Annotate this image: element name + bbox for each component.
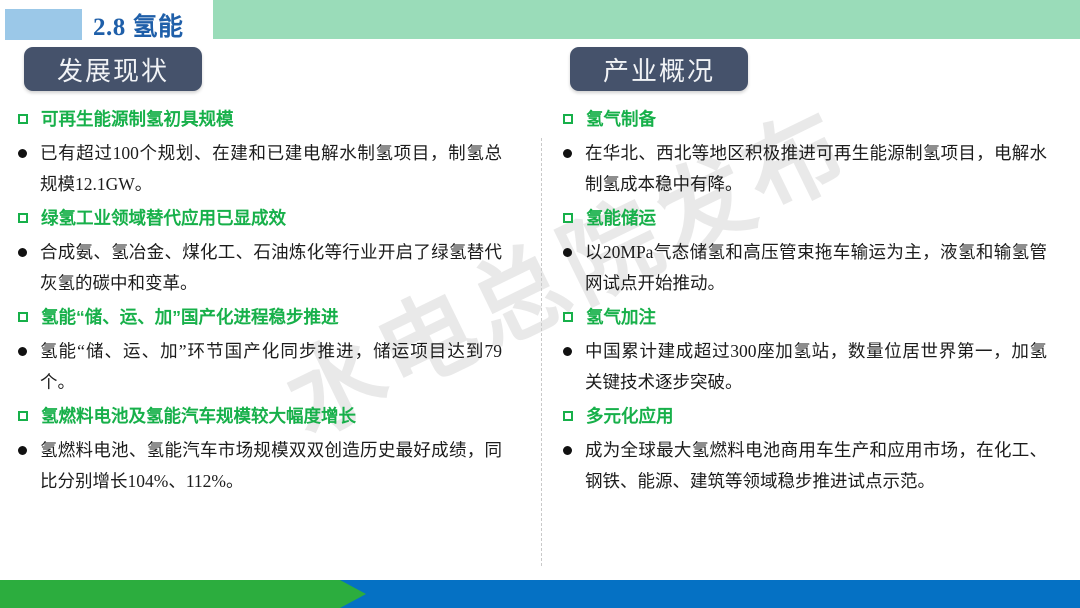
bullet-text: 成为全球最大氢燃料电池商用车生产和应用市场，在化工、钢铁、能源、建筑等领域稳步推… bbox=[585, 435, 1047, 497]
pill-label-right: 产业概况 bbox=[603, 51, 715, 88]
bullet-text: 氢燃料电池、氢能汽车市场规模双双创造历史最好成绩，同比分别增长104%、112%… bbox=[40, 435, 502, 497]
sub-heading-label: 氢气加注 bbox=[586, 304, 656, 330]
sub-heading: 绿氢工业领域替代应用已显成效 bbox=[18, 205, 523, 231]
square-bullet-icon bbox=[563, 114, 573, 124]
slide-canvas: 2.8 氢能 水电总院发布 发展现状 产业概况 可再生能源制氢初具规模 已有超过… bbox=[0, 0, 1080, 608]
sub-heading: 多元化应用 bbox=[563, 403, 1068, 429]
bullet-item: 成为全球最大氢燃料电池商用车生产和应用市场，在化工、钢铁、能源、建筑等领域稳步推… bbox=[563, 435, 1068, 497]
bullet-item: 氢能“储、运、加”环节国产化同步推进，储运项目达到79个。 bbox=[18, 336, 523, 398]
content-column-left: 可再生能源制氢初具规模 已有超过100个规划、在建和已建电解水制氢项目，制氢总规… bbox=[18, 106, 523, 502]
header-green-bar bbox=[213, 0, 1080, 39]
sub-heading-label: 氢燃料电池及氢能汽车规模较大幅度增长 bbox=[41, 403, 356, 429]
bullet-item: 氢燃料电池、氢能汽车市场规模双双创造历史最好成绩，同比分别增长104%、112%… bbox=[18, 435, 523, 497]
round-bullet-icon bbox=[18, 149, 27, 158]
sub-heading: 氢能“储、运、加”国产化进程稳步推进 bbox=[18, 304, 523, 330]
content-block: 绿氢工业领域替代应用已显成效 合成氨、氢冶金、煤化工、石油炼化等行业开启了绿氢替… bbox=[18, 205, 523, 299]
square-bullet-icon bbox=[18, 213, 28, 223]
sub-heading: 氢能储运 bbox=[563, 205, 1068, 231]
footer-green-arrow-segment bbox=[0, 580, 366, 608]
square-bullet-icon bbox=[563, 213, 573, 223]
sub-heading-label: 氢能“储、运、加”国产化进程稳步推进 bbox=[41, 304, 339, 330]
round-bullet-icon bbox=[18, 347, 27, 356]
sub-heading-label: 绿氢工业领域替代应用已显成效 bbox=[41, 205, 286, 231]
bullet-item: 在华北、西北等地区积极推进可再生能源制氢项目，电解水制氢成本稳中有降。 bbox=[563, 138, 1068, 200]
bullet-text: 氢能“储、运、加”环节国产化同步推进，储运项目达到79个。 bbox=[40, 336, 502, 398]
header-accent-block bbox=[5, 9, 82, 40]
content-column-right: 氢气制备 在华北、西北等地区积极推进可再生能源制氢项目，电解水制氢成本稳中有降。… bbox=[563, 106, 1068, 502]
section-header-industry-overview: 产业概况 bbox=[570, 47, 748, 91]
bullet-text: 在华北、西北等地区积极推进可再生能源制氢项目，电解水制氢成本稳中有降。 bbox=[585, 138, 1047, 200]
bullet-item: 中国累计建成超过300座加氢站，数量位居世界第一，加氢关键技术逐步突破。 bbox=[563, 336, 1068, 398]
content-block: 氢气制备 在华北、西北等地区积极推进可再生能源制氢项目，电解水制氢成本稳中有降。 bbox=[563, 106, 1068, 200]
footer-bar bbox=[0, 580, 1080, 608]
bullet-text: 中国累计建成超过300座加氢站，数量位居世界第一，加氢关键技术逐步突破。 bbox=[585, 336, 1047, 398]
page-title: 2.8 氢能 bbox=[93, 7, 184, 43]
sub-heading: 氢气加注 bbox=[563, 304, 1068, 330]
bullet-item: 合成氨、氢冶金、煤化工、石油炼化等行业开启了绿氢替代灰氢的碳中和变革。 bbox=[18, 237, 523, 299]
bullet-item: 已有超过100个规划、在建和已建电解水制氢项目，制氢总规模12.1GW。 bbox=[18, 138, 523, 200]
round-bullet-icon bbox=[18, 248, 27, 257]
sub-heading: 氢气制备 bbox=[563, 106, 1068, 132]
sub-heading-label: 氢气制备 bbox=[586, 106, 656, 132]
bullet-text: 合成氨、氢冶金、煤化工、石油炼化等行业开启了绿氢替代灰氢的碳中和变革。 bbox=[40, 237, 502, 299]
bullet-item: 以20MPa气态储氢和高压管束拖车输运为主，液氢和输氢管网试点开始推动。 bbox=[563, 237, 1068, 299]
round-bullet-icon bbox=[563, 149, 572, 158]
square-bullet-icon bbox=[18, 312, 28, 322]
round-bullet-icon bbox=[563, 248, 572, 257]
square-bullet-icon bbox=[563, 411, 573, 421]
sub-heading-label: 氢能储运 bbox=[586, 205, 656, 231]
content-block: 氢燃料电池及氢能汽车规模较大幅度增长 氢燃料电池、氢能汽车市场规模双双创造历史最… bbox=[18, 403, 523, 497]
square-bullet-icon bbox=[18, 411, 28, 421]
content-block: 氢气加注 中国累计建成超过300座加氢站，数量位居世界第一，加氢关键技术逐步突破… bbox=[563, 304, 1068, 398]
column-divider bbox=[541, 138, 542, 566]
pill-label-left: 发展现状 bbox=[57, 51, 169, 88]
sub-heading-label: 多元化应用 bbox=[586, 403, 674, 429]
content-block: 可再生能源制氢初具规模 已有超过100个规划、在建和已建电解水制氢项目，制氢总规… bbox=[18, 106, 523, 200]
round-bullet-icon bbox=[563, 347, 572, 356]
content-block: 氢能“储、运、加”国产化进程稳步推进 氢能“储、运、加”环节国产化同步推进，储运… bbox=[18, 304, 523, 398]
square-bullet-icon bbox=[563, 312, 573, 322]
sub-heading-label: 可再生能源制氢初具规模 bbox=[41, 106, 234, 132]
content-block: 多元化应用 成为全球最大氢燃料电池商用车生产和应用市场，在化工、钢铁、能源、建筑… bbox=[563, 403, 1068, 497]
section-header-development-status: 发展现状 bbox=[24, 47, 202, 91]
content-block: 氢能储运 以20MPa气态储氢和高压管束拖车输运为主，液氢和输氢管网试点开始推动… bbox=[563, 205, 1068, 299]
round-bullet-icon bbox=[18, 446, 27, 455]
sub-heading: 可再生能源制氢初具规模 bbox=[18, 106, 523, 132]
bullet-text: 以20MPa气态储氢和高压管束拖车输运为主，液氢和输氢管网试点开始推动。 bbox=[585, 237, 1047, 299]
sub-heading: 氢燃料电池及氢能汽车规模较大幅度增长 bbox=[18, 403, 523, 429]
square-bullet-icon bbox=[18, 114, 28, 124]
bullet-text: 已有超过100个规划、在建和已建电解水制氢项目，制氢总规模12.1GW。 bbox=[40, 138, 502, 200]
round-bullet-icon bbox=[563, 446, 572, 455]
